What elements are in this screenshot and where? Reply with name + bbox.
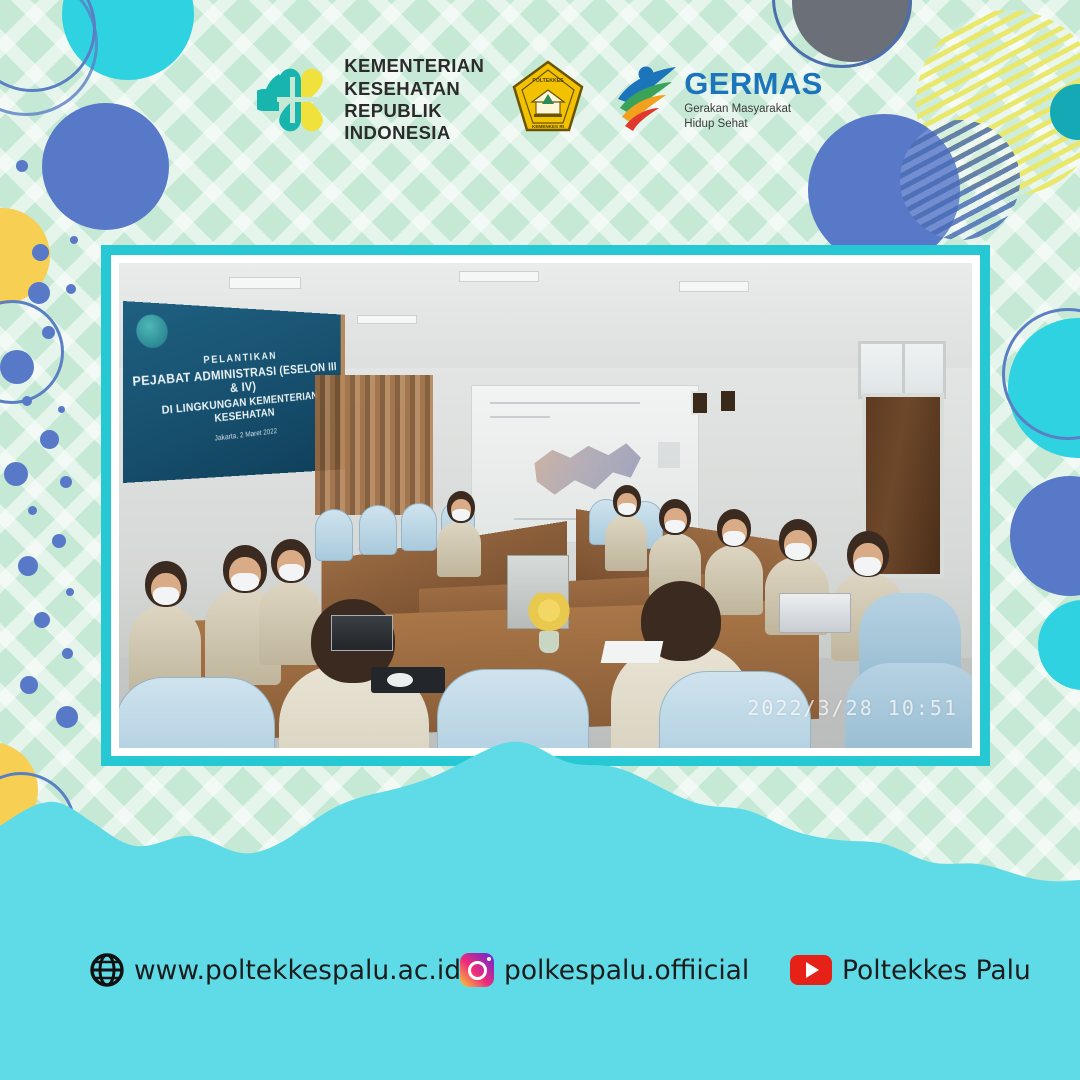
- decor-dot: [62, 648, 73, 659]
- website-link[interactable]: www.poltekkespalu.ac.id: [90, 953, 460, 987]
- decor-circle-blue-rightlow: [1010, 476, 1080, 596]
- decor-dot: [20, 676, 38, 694]
- logo-row: KEMENTERIAN KESEHATAN REPUBLIK INDONESIA…: [0, 48, 1080, 152]
- vase: [539, 631, 559, 653]
- decor-dot: [28, 506, 37, 515]
- kemenkes-line2: KESEHATAN: [344, 78, 484, 100]
- instagram-label: polkespalu.offiicial: [504, 955, 749, 986]
- attendee-mask: [452, 509, 470, 521]
- decor-dot: [16, 160, 28, 172]
- germas-logo-text: GERMAS Gerakan Masyarakat Hidup Sehat: [684, 68, 822, 131]
- poltekkes-palu-emblem-icon: POLTEKKES KEMENKES RI: [512, 60, 584, 140]
- instagram-link[interactable]: polkespalu.offiicial: [460, 953, 790, 987]
- decor-circle-blue-left-small: [0, 350, 34, 384]
- instagram-icon: [460, 953, 494, 987]
- decor-dot: [22, 396, 32, 406]
- banner-text: PELANTIKAN PEJABAT ADMINISTRASI (ESELON …: [128, 347, 343, 453]
- meeting-photo: PELANTIKAN PEJABAT ADMINISTRASI (ESELON …: [119, 263, 972, 748]
- chair: [401, 503, 437, 551]
- youtube-icon: [790, 955, 832, 985]
- decor-dot: [34, 612, 50, 628]
- germas-sub-line1: Gerakan Masyarakat: [684, 102, 822, 117]
- attendee-mask: [279, 564, 304, 581]
- attendee-mask: [854, 557, 881, 576]
- attendee-body: [437, 521, 481, 577]
- svg-text:KEMENKES RI: KEMENKES RI: [532, 124, 564, 129]
- kemenkes-line1: KEMENTERIAN: [344, 55, 484, 77]
- decor-dot: [66, 284, 76, 294]
- ceiling-light: [459, 271, 539, 282]
- ceiling-light: [679, 281, 749, 292]
- screen-text-line: [490, 416, 550, 418]
- photo-timestamp: 2022/3/28 10:51: [747, 696, 958, 720]
- wall-picture: [691, 391, 709, 415]
- attendee-mask: [723, 531, 745, 546]
- attendee-mask: [231, 573, 259, 591]
- bottom-wave-band: [0, 740, 1080, 1080]
- germas-title: GERMAS: [684, 68, 822, 99]
- ceiling-light: [229, 277, 301, 289]
- photo-frame-inner: PELANTIKAN PEJABAT ADMINISTRASI (ESELON …: [111, 255, 980, 756]
- germas-subtitle: Gerakan Masyarakat Hidup Sehat: [684, 102, 822, 131]
- decor-dot: [28, 282, 50, 304]
- website-label: www.poltekkespalu.ac.id: [134, 955, 461, 986]
- event-banner: PELANTIKAN PEJABAT ADMINISTRASI (ESELON …: [123, 301, 345, 483]
- attendee-mask: [153, 587, 179, 605]
- screen-text-line: [514, 518, 584, 520]
- decor-dot: [58, 406, 65, 413]
- paper: [387, 673, 413, 687]
- poster-canvas: KEMENTERIAN KESEHATAN REPUBLIK INDONESIA…: [0, 0, 1080, 1080]
- decor-dot: [52, 534, 66, 548]
- paper: [601, 641, 664, 663]
- decor-ring-right-mid: [1002, 308, 1080, 440]
- youtube-label: Poltekkes Palu: [842, 955, 1031, 986]
- decor-dot: [70, 236, 78, 244]
- attendee-mask: [618, 503, 636, 515]
- globe-icon: [90, 953, 124, 987]
- decor-circle-teal-rightlow: [1038, 600, 1080, 690]
- decor-dot: [60, 476, 72, 488]
- screen-text-line: [490, 402, 640, 404]
- attendee-mask: [785, 543, 810, 560]
- footer-social-bar: www.poltekkespalu.ac.id polkespalu.offii…: [0, 938, 1080, 1002]
- decor-dot: [56, 706, 78, 728]
- decor-dot: [42, 326, 55, 339]
- decor-dot: [78, 186, 87, 195]
- kemenkes-line4: INDONESIA: [344, 122, 484, 144]
- youtube-link[interactable]: Poltekkes Palu: [790, 955, 1031, 986]
- chair: [359, 505, 397, 555]
- attendee-body: [605, 515, 647, 571]
- window-curtain: [315, 375, 433, 515]
- ceiling-light: [357, 315, 417, 324]
- decor-dot: [4, 462, 28, 486]
- wall-picture: [719, 389, 737, 413]
- laptop: [779, 593, 851, 633]
- laptop: [331, 615, 393, 651]
- germas-sub-line2: Hidup Sehat: [684, 117, 822, 132]
- kemenkes-line3: REPUBLIK: [344, 100, 484, 122]
- screen-caption-line: [658, 442, 680, 468]
- chair-foreground: [437, 669, 589, 748]
- decor-dot: [32, 244, 49, 261]
- attendee-mask: [665, 520, 685, 533]
- kemenkes-logo-block: KEMENTERIAN KESEHATAN REPUBLIK INDONESIA: [257, 55, 484, 145]
- decor-dot: [40, 430, 59, 449]
- germas-logo-icon: [612, 63, 678, 137]
- photo-frame: PELANTIKAN PEJABAT ADMINISTRASI (ESELON …: [101, 245, 990, 766]
- kemenkes-logo-text: KEMENTERIAN KESEHATAN REPUBLIK INDONESIA: [344, 55, 484, 145]
- kemenkes-logo-icon: [257, 59, 331, 141]
- chair-foreground: [119, 677, 275, 748]
- banner-logo-icon: [136, 314, 167, 349]
- window-right: [858, 341, 946, 399]
- chair: [315, 509, 353, 561]
- germas-logo-block: GERMAS Gerakan Masyarakat Hidup Sehat: [612, 63, 822, 137]
- svg-text:POLTEKKES: POLTEKKES: [533, 78, 565, 84]
- decor-dot: [66, 588, 74, 596]
- decor-dot: [18, 556, 38, 576]
